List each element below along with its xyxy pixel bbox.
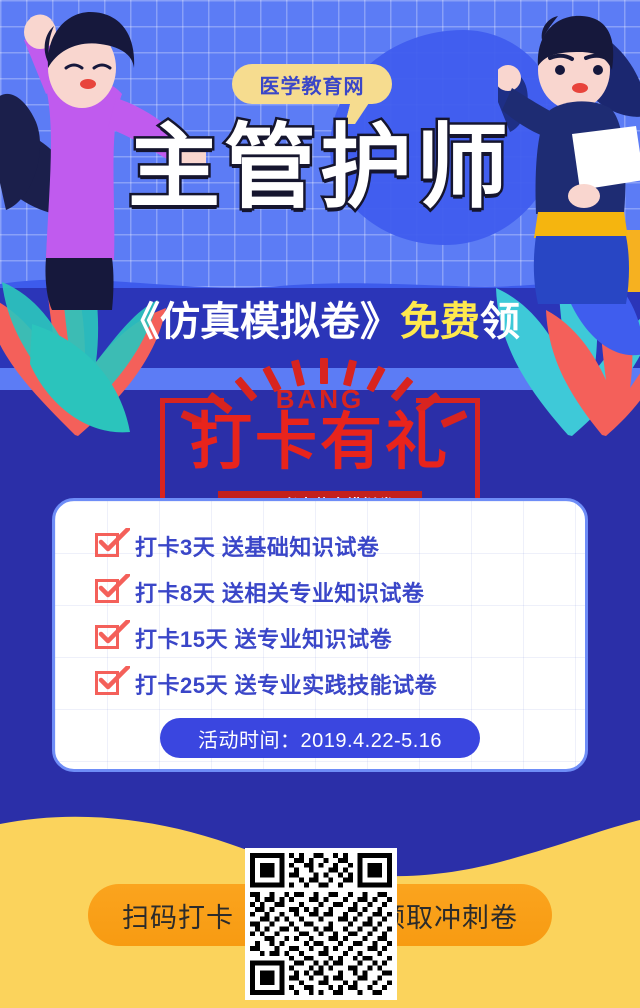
- event-date-badge: 活动时间：2019.4.22-5.16: [160, 718, 480, 758]
- list-item-label: 打卡8天 送相关专业知识试卷: [135, 576, 424, 608]
- list-item: 打卡15天 送专业知识试卷: [95, 615, 565, 661]
- page-title: 主管护师: [0, 122, 640, 214]
- list-item-label: 打卡3天 送基础知识试卷: [135, 530, 379, 562]
- subtitle-part-free: 免费: [400, 300, 480, 344]
- checkbox-checked-icon: [95, 579, 121, 605]
- checkbox-checked-icon: [95, 533, 121, 559]
- cta-left-label[interactable]: 扫码打卡: [122, 896, 234, 935]
- brand-name: 医学教育网: [260, 70, 365, 99]
- checkbox-checked-icon: [95, 625, 121, 651]
- rewards-list: 打卡3天 送基础知识试卷 打卡8天 送相关专业知识试卷 打卡15天 送专业知识试…: [95, 523, 565, 707]
- event-date-label: 活动时间：2019.4.22-5.16: [198, 724, 442, 753]
- checkbox-checked-icon: [95, 671, 121, 697]
- list-item: 打卡8天 送相关专业知识试卷: [95, 569, 565, 615]
- hero-subtitle: 《仿真模拟卷》免费领: [0, 300, 640, 344]
- campaign-headline: 打卡有礼: [0, 412, 640, 474]
- cta-right-label[interactable]: 领取冲刺卷: [378, 896, 518, 935]
- list-item-label: 打卡25天 送专业实践技能试卷: [135, 668, 437, 700]
- list-item-label: 打卡15天 送专业知识试卷: [135, 622, 392, 654]
- subtitle-part-book: 《仿真模拟卷》: [120, 300, 400, 344]
- qr-code[interactable]: [245, 848, 397, 1000]
- list-item: 打卡25天 送专业实践技能试卷: [95, 661, 565, 707]
- brand-bubble: 医学教育网: [232, 64, 392, 104]
- poster: 医学教育网 主管护师 《仿真模拟卷》免费领 BANG 打卡有礼 2019考点仿真…: [0, 0, 640, 1008]
- subtitle-part-claim: 领: [480, 300, 520, 344]
- list-item: 打卡3天 送基础知识试卷: [95, 523, 565, 569]
